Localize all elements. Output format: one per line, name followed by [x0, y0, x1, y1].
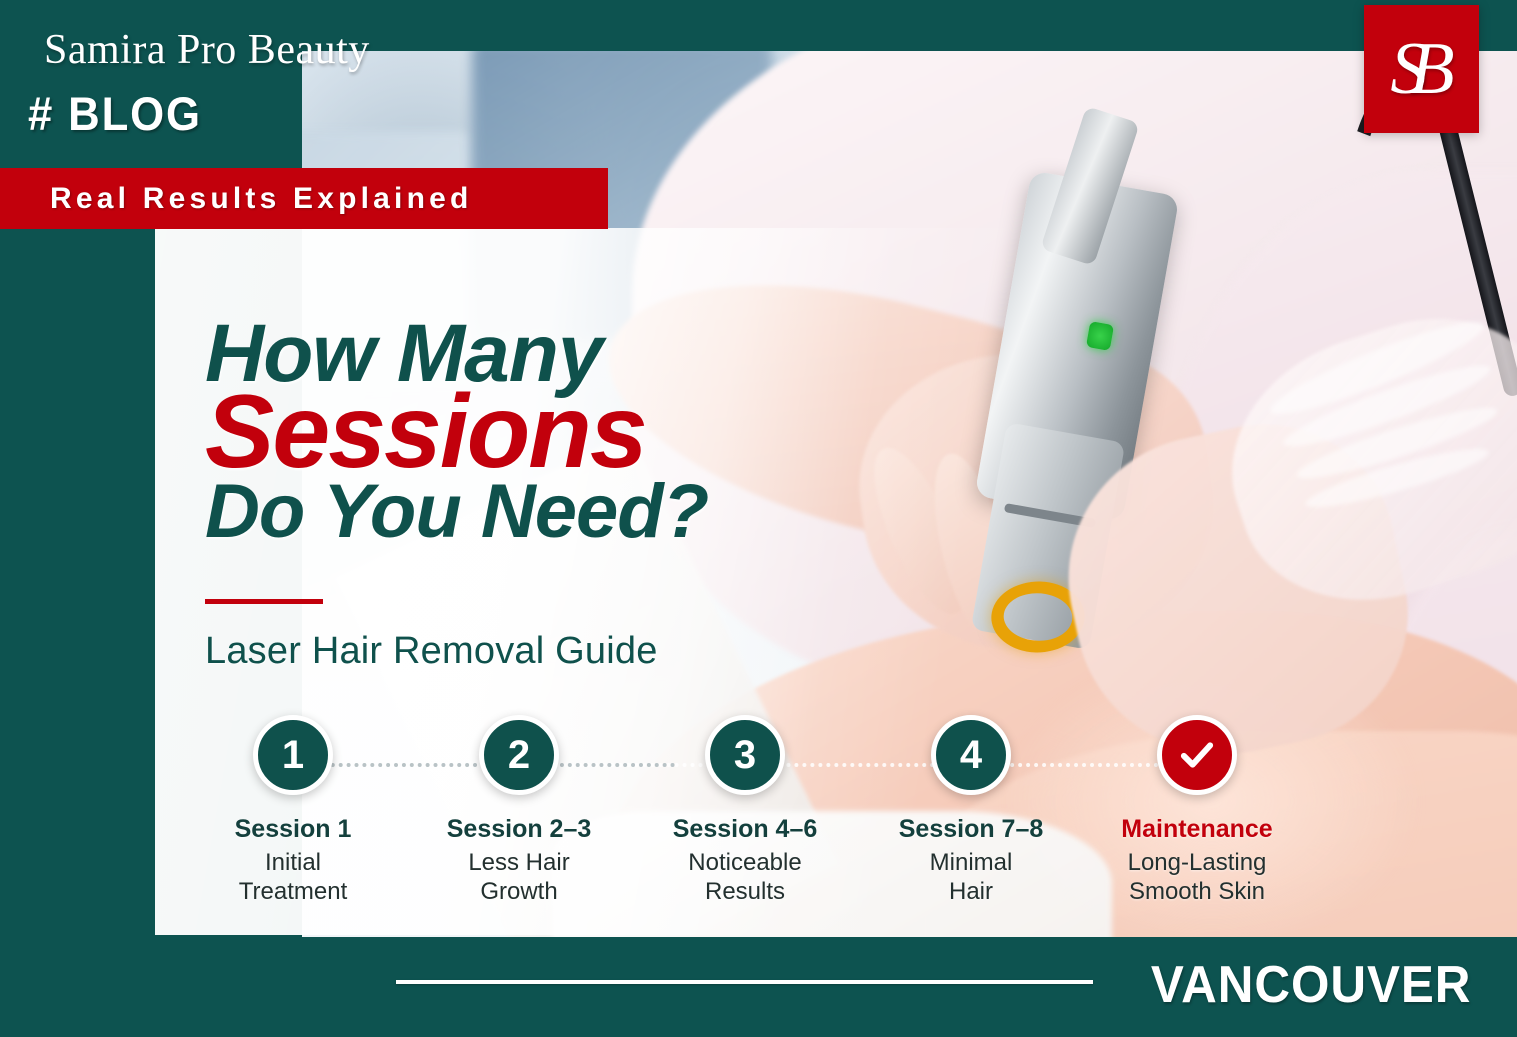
timeline-step-5[interactable]: MaintenanceLong-Lasting Smooth Skin — [1084, 715, 1310, 907]
step-description: Minimal Hair — [930, 848, 1013, 907]
step-title: Session 2–3 — [447, 815, 592, 844]
page-title: How Many Sessions Do You Need? — [205, 316, 845, 547]
step-description: Initial Treatment — [239, 848, 347, 907]
step-number-label: 1 — [282, 733, 304, 778]
timeline-step-3[interactable]: 3Session 4–6Noticeable Results — [632, 715, 858, 907]
results-banner-label: Real Results Explained — [50, 182, 473, 216]
headline-line-2: Sessions — [205, 385, 845, 481]
timeline-step-1[interactable]: 1Session 1Initial Treatment — [180, 715, 406, 907]
title-divider — [205, 599, 323, 604]
blog-tag-label: # BLOG — [28, 86, 202, 141]
results-banner: Real Results Explained — [0, 168, 608, 229]
step-number-label: 4 — [960, 733, 982, 778]
step-number-label: 3 — [734, 733, 756, 778]
step-number-badge: 1 — [253, 715, 333, 795]
session-timeline: 1Session 1Initial Treatment2Session 2–3L… — [180, 715, 1310, 905]
step-description: Long-Lasting Smooth Skin — [1128, 848, 1267, 907]
brand-monogram-icon: SB — [1390, 32, 1452, 106]
step-title: Session 4–6 — [673, 815, 818, 844]
power-indicator-icon — [1086, 321, 1114, 351]
timeline-steps: 1Session 1Initial Treatment2Session 2–3L… — [180, 715, 1310, 905]
brand-logo-badge[interactable]: SB — [1364, 5, 1479, 133]
headline-line-3: Do You Need? — [205, 477, 845, 547]
brand-name: Samira Pro Beauty — [44, 26, 370, 74]
step-title: Session 1 — [235, 815, 352, 844]
poster-canvas: # BLOG Real Results Explained SB How Man… — [0, 0, 1517, 1037]
step-description: Noticeable Results — [688, 848, 801, 907]
left-green-strip — [0, 168, 155, 937]
timeline-step-2[interactable]: 2Session 2–3Less Hair Growth — [406, 715, 632, 907]
city-label: VANCOUVER — [1150, 955, 1471, 1015]
check-icon — [1157, 715, 1237, 795]
step-number-badge: 4 — [931, 715, 1011, 795]
step-description: Less Hair Growth — [468, 848, 569, 907]
step-number-label: 2 — [508, 733, 530, 778]
step-number-badge: 2 — [479, 715, 559, 795]
step-title: Session 7–8 — [899, 815, 1044, 844]
page-subtitle: Laser Hair Removal Guide — [205, 630, 658, 673]
timeline-step-4[interactable]: 4Session 7–8Minimal Hair — [858, 715, 1084, 907]
footer-divider — [396, 980, 1093, 984]
step-title: Maintenance — [1121, 815, 1272, 844]
step-number-badge: 3 — [705, 715, 785, 795]
